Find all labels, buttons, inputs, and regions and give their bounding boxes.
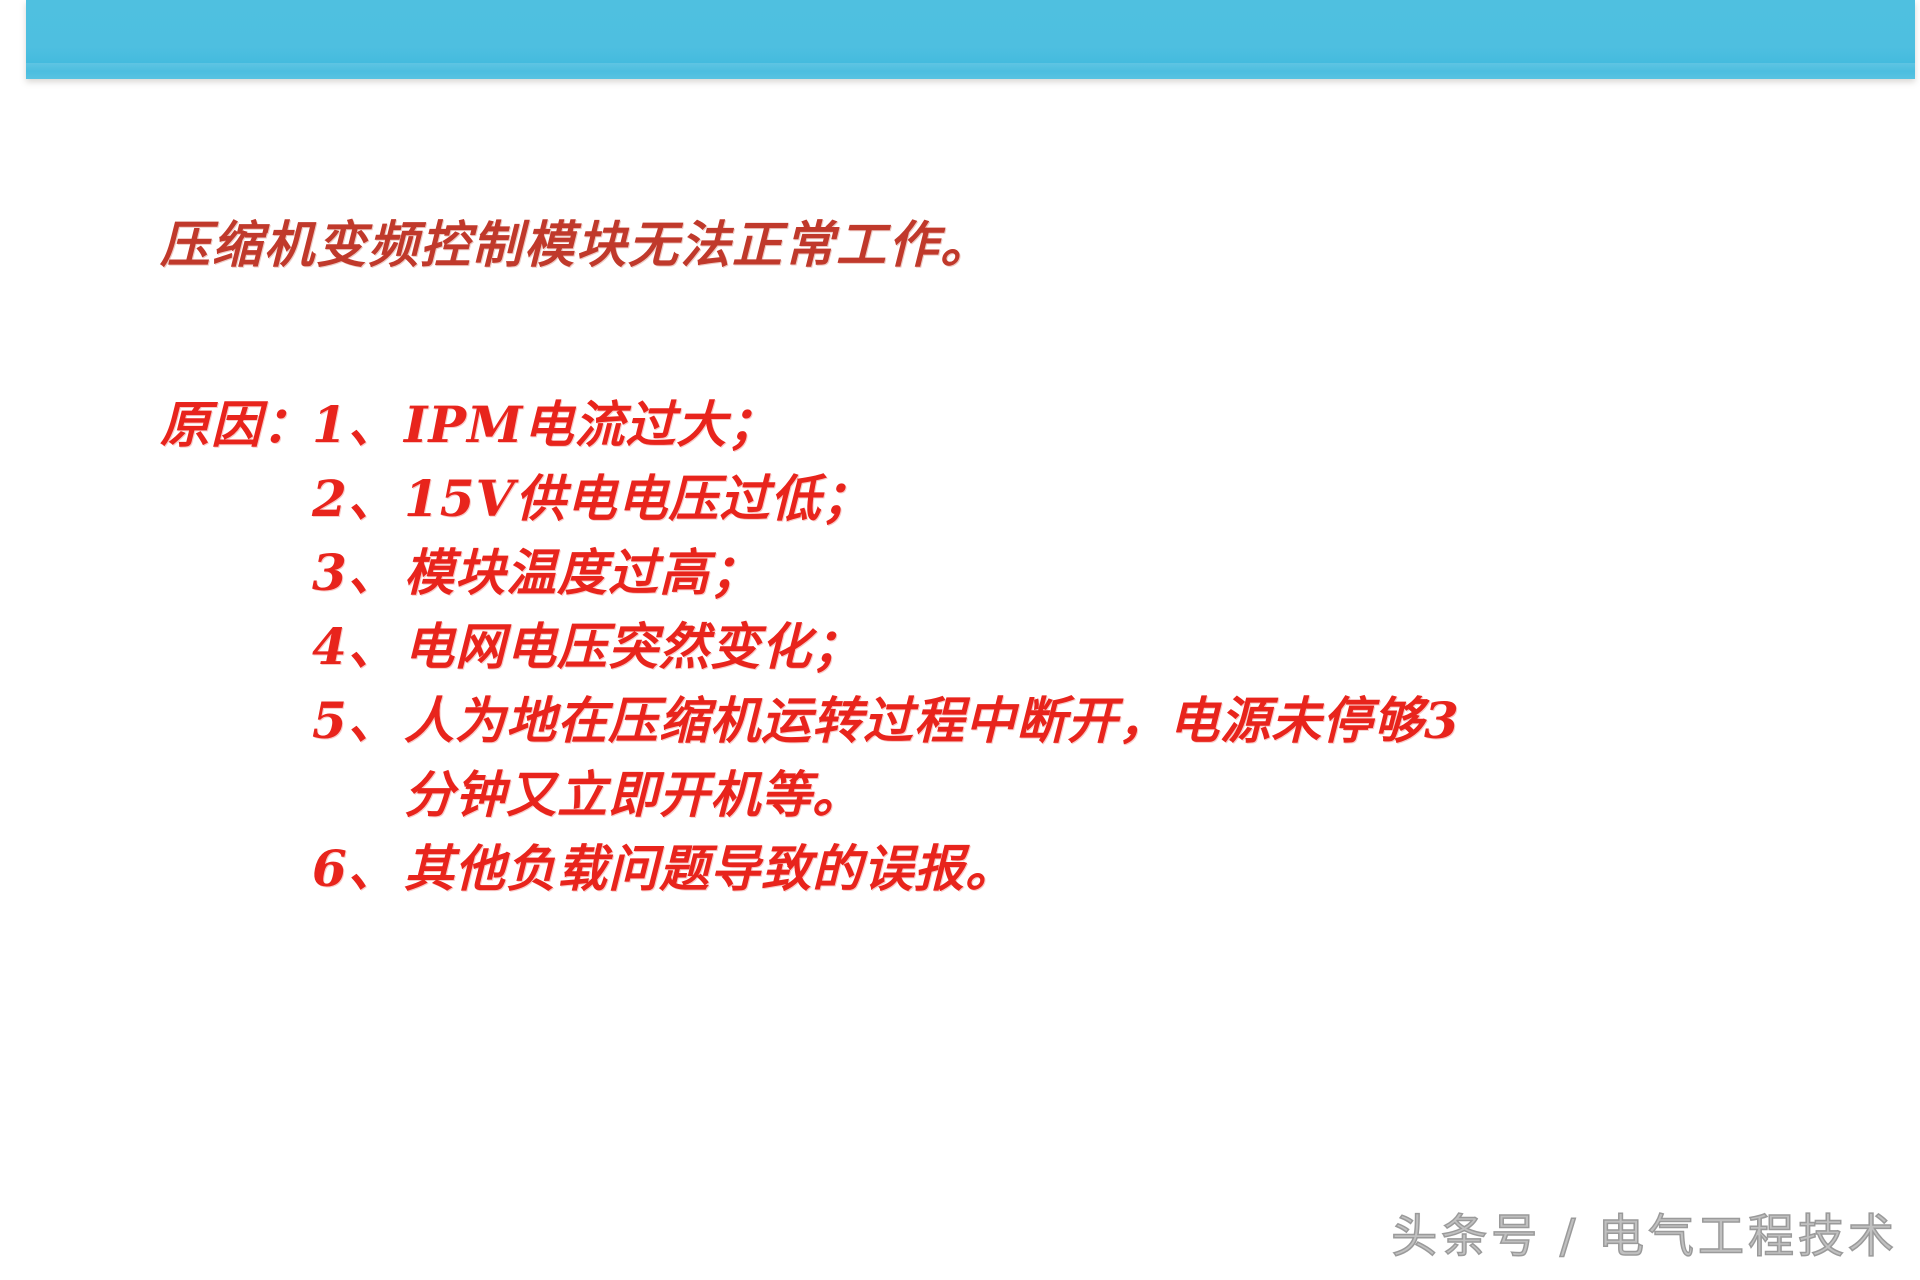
reason-list: 原因：1、IPM电流过大； 2、15V供电电压过低； 3、模块温度过高； 4、电… (160, 388, 1460, 906)
list-item-text: 其他负载问题导致的误报。 (404, 839, 1016, 898)
list-item-text: 15V供电电压过低； (404, 469, 872, 528)
list-item: 6、其他负载问题导致的误报。 (160, 832, 1460, 906)
list-item: 3、模块温度过高； (160, 536, 1460, 610)
page-title: 压缩机变频控制模块无法正常工作。 (160, 205, 992, 277)
list-item-text: 分钟又立即开机等。 (404, 765, 863, 824)
list-item-text: 电网电压突然变化； (404, 617, 863, 676)
list-item-text: IPM电流过大； (404, 395, 778, 454)
list-item-number: 6、 (312, 832, 404, 906)
list-item: 4、电网电压突然变化； (160, 610, 1460, 684)
list-item-text: 人为地在压缩机运转过程中断开，电源未停够3 (404, 691, 1460, 750)
list-item-number: 5、 (312, 684, 404, 758)
list-item: 2、15V供电电压过低； (160, 462, 1460, 536)
reason-label: 原因： (160, 388, 312, 462)
list-item-text: 模块温度过高； (404, 543, 761, 602)
watermark: 头条号 / 电气工程技术 (1391, 1200, 1898, 1266)
slide-canvas: 压缩机变频控制模块无法正常工作。 原因：1、IPM电流过大； 2、15V供电电压… (0, 0, 1920, 1280)
list-item-number: 2、 (312, 462, 404, 536)
list-item-continuation: 分钟又立即开机等。 (160, 758, 1460, 832)
list-item: 5、人为地在压缩机运转过程中断开，电源未停够3 (160, 684, 1460, 758)
list-item-number: 3、 (312, 536, 404, 610)
list-item: 原因：1、IPM电流过大； (160, 388, 1460, 462)
list-item-number: 1、 (312, 388, 404, 462)
list-item-number: 4、 (312, 610, 404, 684)
slide-content: 压缩机变频控制模块无法正常工作。 原因：1、IPM电流过大； 2、15V供电电压… (0, 0, 1920, 1280)
